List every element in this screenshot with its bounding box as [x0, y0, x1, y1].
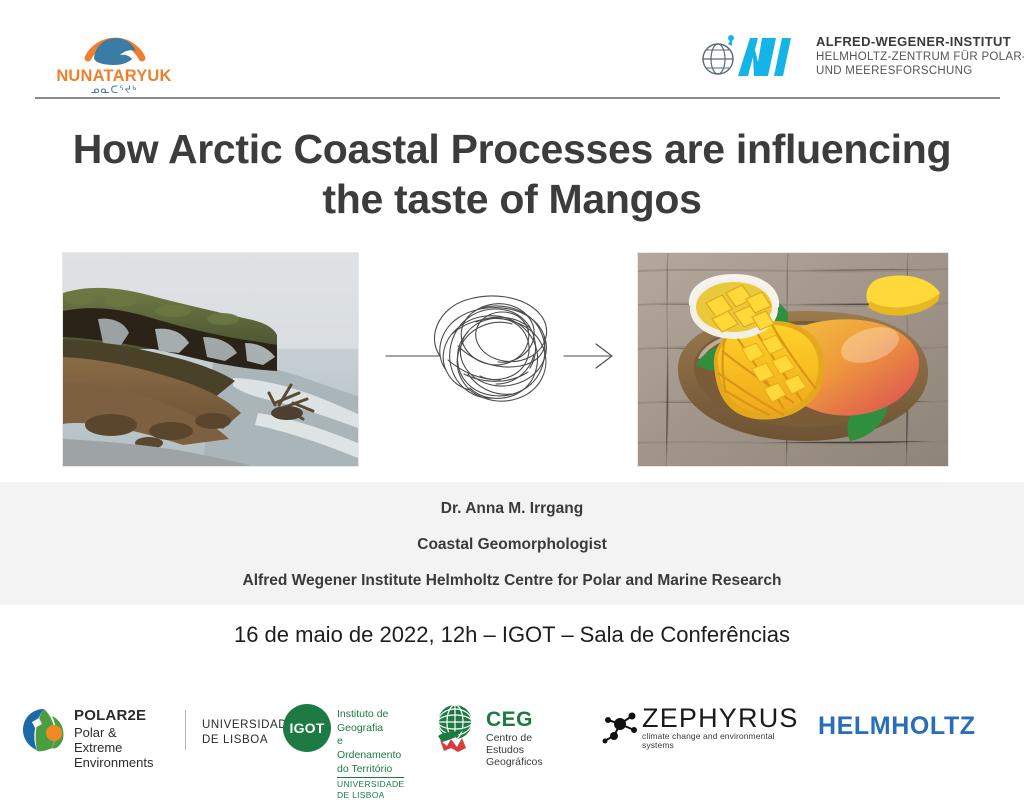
awi-wordmark: ALFRED-WEGENER-INSTITUT HELMHOLTZ-ZENTRU…: [816, 34, 1024, 78]
igot-line-3: UNIVERSIDADE DE LISBOA: [337, 777, 404, 801]
zephyrus-tagline: climate change and environmental systems: [642, 732, 799, 750]
arctic-coast-photo: [62, 252, 359, 467]
ceg-globe-icon: [430, 702, 482, 754]
nunataryuk-syllabics: ᓄᓇᑕᕐᔪᒃ: [52, 85, 176, 96]
igot-acronym: IGOT: [283, 704, 331, 752]
awi-globe-icon: [698, 32, 808, 80]
awi-line-1: ALFRED-WEGENER-INSTITUT: [816, 34, 1024, 50]
polar2e-wordmark: POLAR2E Polar & Extreme Environments: [74, 707, 153, 771]
nunataryuk-wordmark: NUNATARYUK: [52, 68, 176, 85]
speaker-band: Dr. Anna M. Irrgang Coastal Geomorpholog…: [0, 482, 1024, 605]
universidade-lisboa-wordmark: UNIVERSIDADE DE LISBOA: [202, 718, 295, 748]
speaker-role: Coastal Geomorphologist: [0, 536, 1024, 554]
slide-header: NUNATARYUK ᓄᓇᑕᕐᔪᒃ ALFRED-WEGE: [0, 0, 1024, 100]
page-title: How Arctic Coastal Processes are influen…: [62, 124, 962, 225]
event-details: 16 de maio de 2022, 12h – IGOT – Sala de…: [0, 622, 1024, 648]
mango-photo: [637, 252, 949, 467]
igot-line-2: e Ordenamento do Território: [337, 735, 404, 776]
zephyrus-name: ZEPHYRUS: [642, 704, 799, 732]
igot-wordmark: Instituto de Geografia e Ordenamento do …: [337, 708, 404, 805]
universidade-line-1: UNIVERSIDADE: [202, 718, 295, 733]
polar2e-sub1: Polar & Extreme: [74, 725, 153, 756]
polar2e-sub2: Environments: [74, 755, 153, 770]
polar2e-title: POLAR2E: [74, 707, 153, 725]
slide-footer: POLAR2E Polar & Extreme Environments UNI…: [0, 690, 1024, 771]
awi-line-3: UND MEERESFORSCHUNG: [816, 64, 1024, 78]
media-row: [0, 252, 1024, 467]
ceg-wordmark: CEG Centro de Estudos Geográficos: [486, 708, 543, 768]
speaker-institution: Alfred Wegener Institute Helmholtz Centr…: [0, 572, 1024, 590]
zephyrus-wordmark: ZEPHYRUS climate change and environmenta…: [642, 704, 799, 750]
igot-badge-icon: IGOT: [283, 704, 331, 752]
nunataryuk-logo: NUNATARYUK ᓄᓇᑕᕐᔪᒃ: [52, 18, 176, 94]
ceg-subtitle: Centro de Estudos Geográficos: [486, 732, 543, 768]
igot-line-1: Instituto de Geografia: [337, 708, 404, 735]
helmholtz-logo: HELMHOLTZ: [818, 712, 976, 741]
polar2e-divider: [185, 710, 186, 750]
awi-line-2: HELMHOLTZ-ZENTRUM FÜR POLAR-: [816, 50, 1024, 64]
header-divider: [35, 97, 1000, 99]
nunataryuk-wave-icon: [84, 18, 146, 66]
speaker-name: Dr. Anna M. Irrgang: [0, 500, 1024, 518]
ceg-acronym: CEG: [486, 708, 543, 732]
universidade-line-2: DE LISBOA: [202, 733, 295, 748]
polar2e-circle-icon: [22, 708, 66, 752]
tangle-arrow-graphic: [382, 274, 622, 434]
zephyrus-molecule-icon: [600, 710, 640, 744]
